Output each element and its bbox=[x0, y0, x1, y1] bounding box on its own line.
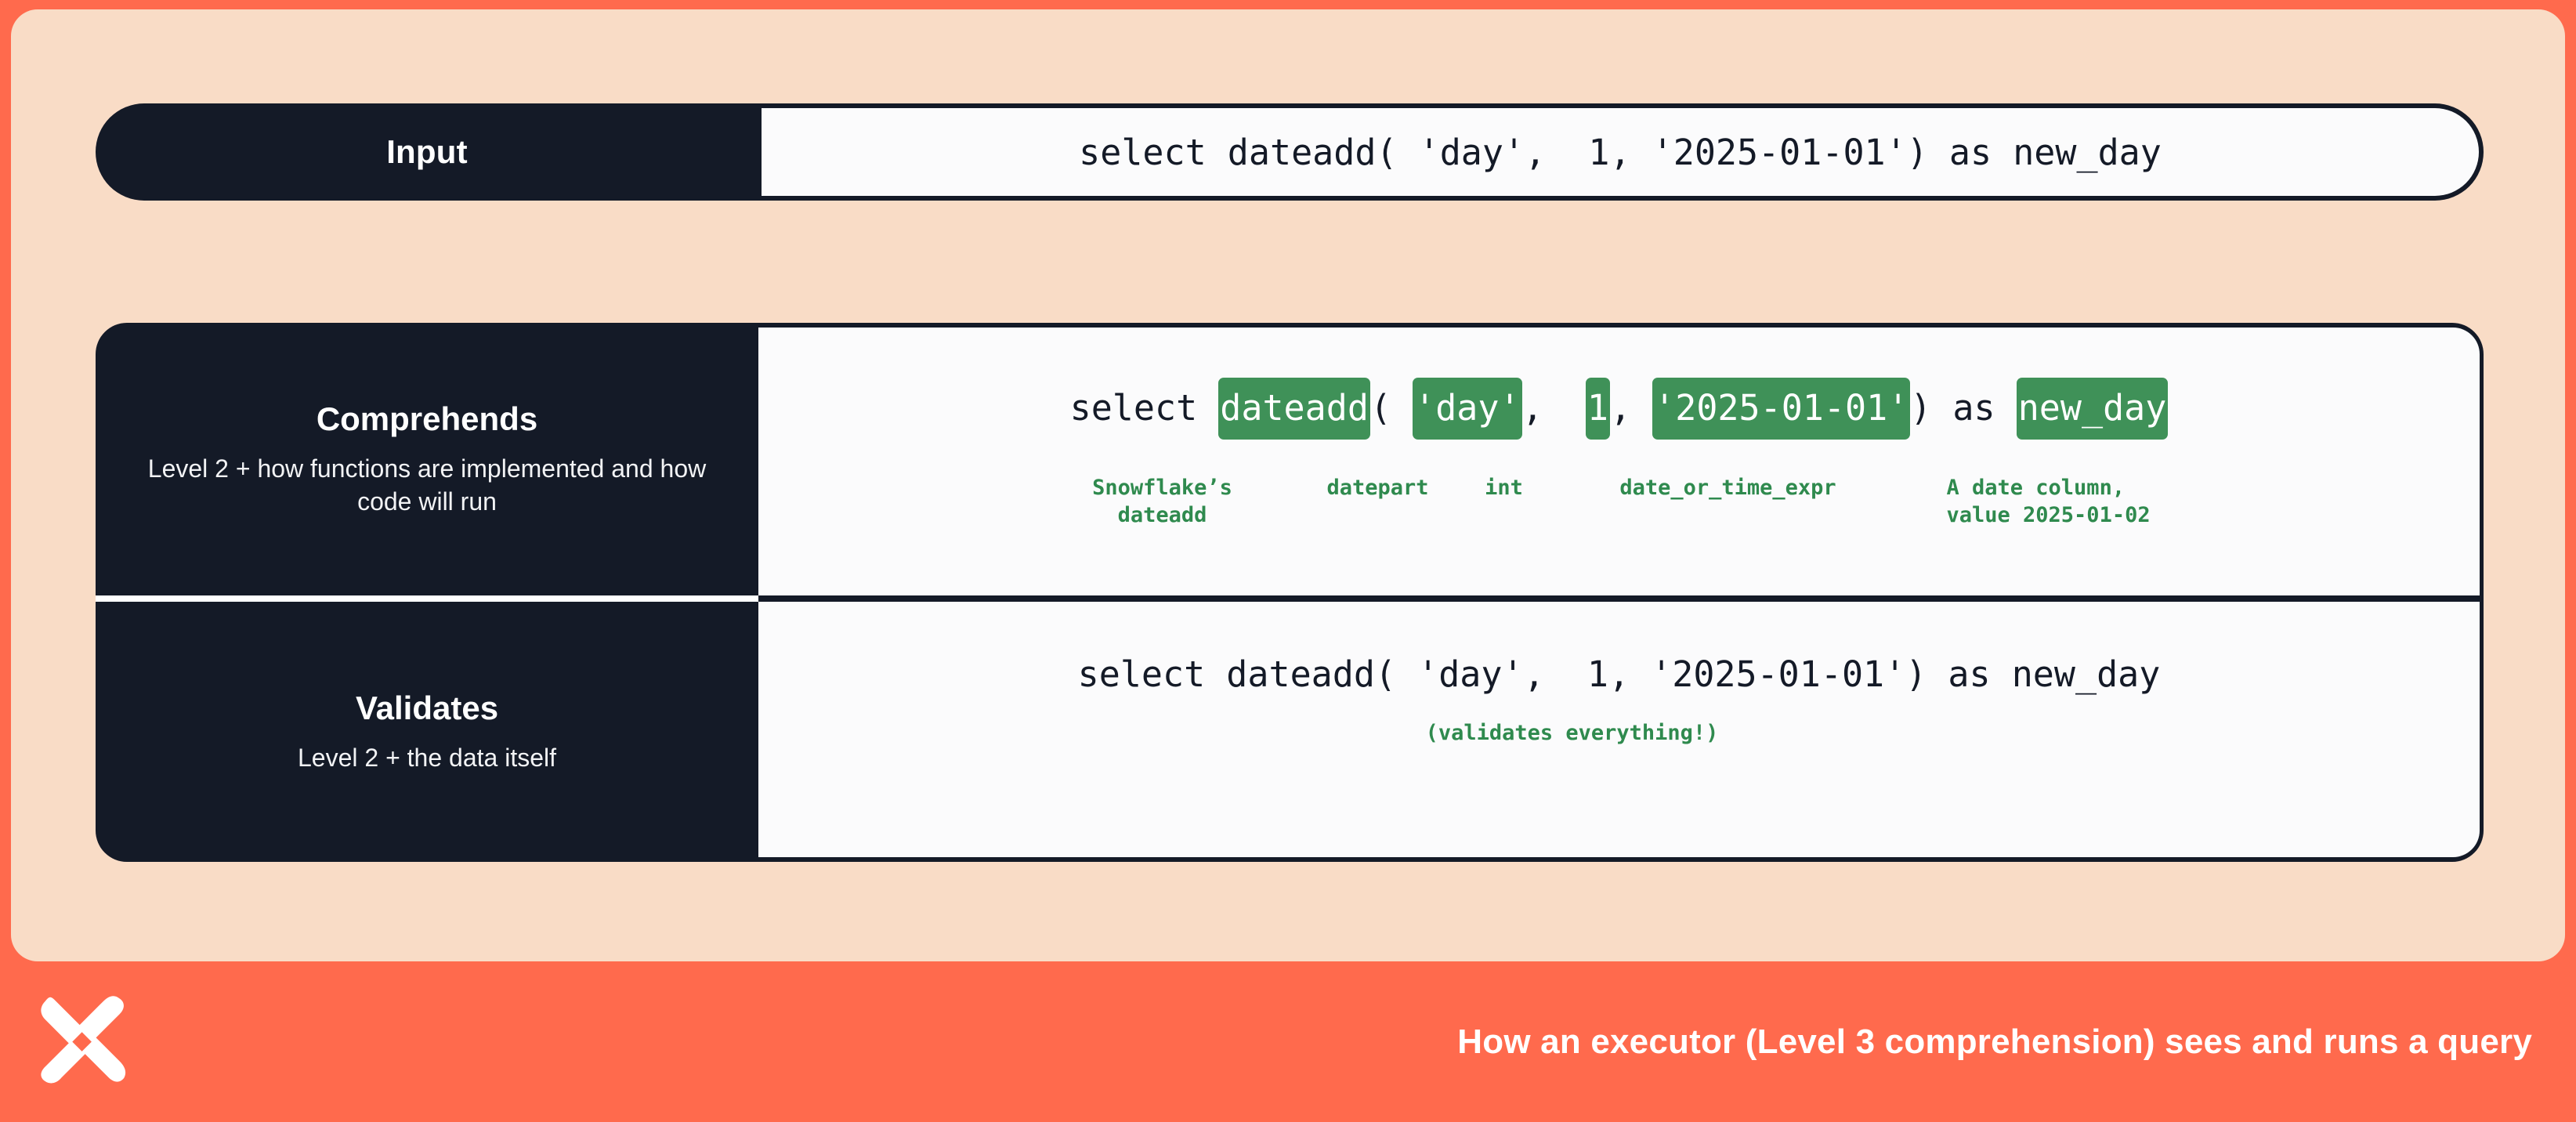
comprehends-row: Comprehends Level 2 + how functions are … bbox=[96, 323, 2484, 595]
levels-card: Comprehends Level 2 + how functions are … bbox=[96, 323, 2484, 862]
code-token-one: 1 bbox=[1586, 378, 1610, 440]
comprehends-label-column: Comprehends Level 2 + how functions are … bbox=[96, 323, 758, 595]
input-card-label-column: Input bbox=[96, 103, 758, 201]
row-divider bbox=[96, 595, 2484, 602]
validates-row: Validates Level 2 + the data itself sele… bbox=[96, 602, 2484, 862]
validates-label-column: Validates Level 2 + the data itself bbox=[96, 602, 758, 862]
code-token-comma-1: , bbox=[1522, 378, 1586, 440]
validates-code-line: select dateadd( 'day', 1, '2025-01-01') … bbox=[758, 653, 2480, 695]
annotation-int: int bbox=[1461, 475, 1547, 529]
comprehends-annotations: Snowflake’s dateadd datepart int date_or… bbox=[758, 475, 2480, 529]
code-token-select: select bbox=[1070, 378, 1219, 440]
annotation-date-expr: date_or_time_expr bbox=[1552, 475, 1905, 529]
annotation-new-day: A date column, value 2025-01-02 bbox=[1947, 475, 2284, 529]
comprehends-code-column: select dateadd( 'day', 1, '2025-01-01') … bbox=[758, 328, 2480, 595]
input-card-label: Input bbox=[386, 133, 468, 171]
validates-code: select dateadd( 'day', 1, '2025-01-01') … bbox=[1078, 653, 2161, 695]
code-token-as: ) as bbox=[1910, 378, 2016, 440]
footer-caption: How an executor (Level 3 comprehension) … bbox=[1457, 1022, 2532, 1062]
input-card-code: select dateadd( 'day', 1, '2025-01-01') … bbox=[1079, 132, 2162, 173]
input-card: Input select dateadd( 'day', 1, '2025-01… bbox=[96, 103, 2484, 201]
comprehends-code-line: select dateadd( 'day', 1, '2025-01-01') … bbox=[758, 378, 2480, 440]
validates-note: (validates everything!) bbox=[1426, 721, 1719, 745]
validates-subtitle: Level 2 + the data itself bbox=[298, 741, 556, 774]
comprehends-title: Comprehends bbox=[317, 400, 537, 438]
row-divider-dark-segment bbox=[758, 595, 2484, 602]
annotation-dateadd: Snowflake’s dateadd bbox=[1033, 475, 1292, 529]
code-token-comma-2: , bbox=[1610, 378, 1652, 440]
validates-title: Validates bbox=[356, 689, 498, 727]
footer-bar: How an executor (Level 3 comprehension) … bbox=[0, 961, 2576, 1122]
comprehends-subtitle: Level 2 + how functions are implemented … bbox=[122, 452, 732, 518]
code-token-open-paren: ( bbox=[1370, 378, 1413, 440]
input-card-code-column: select dateadd( 'day', 1, '2025-01-01') … bbox=[762, 108, 2479, 196]
code-token-day: 'day' bbox=[1413, 378, 1521, 440]
slide-frame: Input select dateadd( 'day', 1, '2025-01… bbox=[0, 0, 2576, 1122]
content-panel: Input select dateadd( 'day', 1, '2025-01… bbox=[11, 9, 2565, 961]
code-token-dateadd: dateadd bbox=[1218, 378, 1370, 440]
butterfly-x-logo bbox=[36, 996, 127, 1087]
validates-code-column: select dateadd( 'day', 1, '2025-01-01') … bbox=[758, 602, 2480, 857]
code-token-new-day: new_day bbox=[2017, 378, 2169, 440]
code-token-date-literal: '2025-01-01' bbox=[1652, 378, 1910, 440]
validates-note-wrap: (validates everything!) bbox=[758, 721, 2480, 745]
annotation-datepart: datepart bbox=[1300, 475, 1456, 529]
